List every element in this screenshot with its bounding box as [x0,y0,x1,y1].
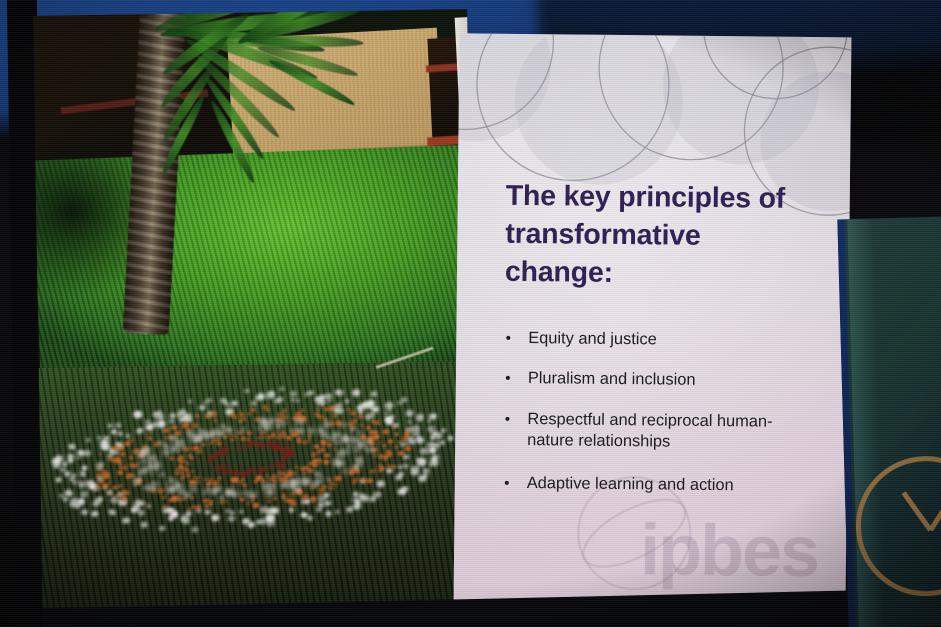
photo-petal [323,434,330,440]
photo-petal [372,469,377,473]
photo-petal [247,412,251,415]
photo-petal [164,435,168,438]
photo-petal [95,497,103,503]
photo-petal [134,499,142,506]
slide-bullet-item: Equity and justice [498,328,834,353]
photo-petal [149,472,154,476]
photo-petal [238,419,243,423]
photo-petal [213,482,218,486]
photo-petal [382,429,389,435]
photo-petal [266,392,276,400]
photo-petal [225,509,230,513]
photo-petal [191,488,197,493]
photo-petal [350,411,357,417]
photo-petal [221,447,227,452]
photo-petal [157,488,164,494]
photo-petal [117,431,123,436]
photo-petal [310,496,317,502]
slide-bullet-text: Respectful and reciprocal human- [527,409,772,433]
slide-bullet-item: Respectful and reciprocal human- nature … [497,408,833,454]
photo-petal [386,468,392,473]
photo-petal [187,475,190,478]
photo-petal [289,390,297,397]
photo-petal [195,413,201,418]
photo-petal [62,497,68,502]
photo-petal [357,458,364,464]
photo-petal [138,510,145,516]
photo-petal [398,440,402,444]
photo-petal [238,445,243,449]
slide-title-line-3: change: [505,254,823,295]
photo-petal [169,487,176,492]
photo-petal [354,448,359,452]
photo-petal [281,408,287,413]
photo-petal [231,400,238,406]
photo-petal [253,502,259,507]
photo-petal [81,509,88,515]
photo-petal [179,477,184,481]
photo-petal [328,399,333,403]
photo-petal [385,417,391,422]
photo-petal [197,449,203,454]
photo-petal [440,428,446,433]
photo-petal [394,432,399,436]
photo-petal [188,399,193,403]
photo-petal [288,507,294,512]
photo-petal [279,477,285,482]
photo-petal [325,511,332,517]
photo-petal [120,472,123,475]
photo-petal [242,436,245,439]
photo-petal [239,509,244,513]
photo-petal [204,509,210,514]
photo-petal [98,468,102,471]
slide-bullet-list: Equity and justice Pluralism and inclusi… [496,328,834,517]
photo-petal [161,496,166,501]
photo-petal [199,404,206,410]
photo-petal [274,464,278,467]
photo-petal [290,501,297,507]
photo-petal [281,420,287,425]
photo-petal [146,504,151,508]
slide-bullet-text: Pluralism and inclusion [528,368,696,391]
photo-petal [72,474,78,479]
photo-petal [369,496,377,503]
photo-petal [374,420,380,425]
photo-petal [302,471,307,475]
photo-petal [387,439,394,444]
photo-petal [95,485,101,490]
photo-petal [192,423,199,429]
photo-petal [301,494,308,500]
photo-petal [208,503,212,506]
photo-petal [110,510,116,515]
photo-petal [431,457,437,462]
photo-petal [219,500,225,505]
photo-petal [384,402,393,410]
photo-petal [308,437,311,440]
photo-petal [61,462,68,467]
photo-petal [190,470,194,473]
photo-petal [159,525,166,531]
photo-petal [286,459,290,462]
photo-petal [128,455,134,460]
photo-petal [320,447,324,450]
slide-bullet-item: Pluralism and inclusion [498,368,834,393]
photo-petal [316,398,326,406]
photo-petal [265,466,271,471]
slide-title-line-2: transformative [505,216,823,257]
photo-petal [352,498,356,502]
photo-petal [186,462,190,465]
photo-petal [302,440,307,444]
photo-petal [384,412,388,416]
photo-petal [137,470,143,475]
photo-petal [203,478,207,481]
photo-petal [78,481,87,488]
photo-petal [156,482,161,486]
photo-petal [407,420,412,424]
presentation-photo-scene: ipbes The key principles of transformati… [0,0,941,627]
photo-petal [151,465,156,469]
photo-petal [55,477,61,482]
photo-petal [213,419,217,422]
photo-petal [323,422,331,428]
photo-petal [118,484,123,488]
photo-petal [327,409,330,412]
photo-petal [257,436,261,439]
photo-petal [352,389,361,396]
photo-petal [167,515,174,521]
photo-petal [150,431,153,434]
photo-petal [233,492,239,497]
photo-petal [205,487,211,492]
photo-petal [303,392,309,397]
photo-petal [70,445,76,450]
photo-petal [246,502,250,505]
photo-petal [214,466,220,471]
photo-petal [209,456,214,460]
photo-petal [115,423,121,428]
photo-petal [130,473,134,477]
photo-petal [190,496,195,500]
photo-petal [255,519,261,524]
photo-petal [391,464,397,469]
photo-petal [402,486,408,491]
photo-petal [440,441,445,446]
photo-petal [308,468,314,473]
photo-petal [208,462,212,465]
photo-petal [333,447,338,451]
photo-petal [243,471,249,476]
photo-petal [405,409,414,417]
photo-petal [246,430,252,435]
photo-petal [278,464,284,469]
photo-petal [326,442,332,447]
photo-petal [249,522,255,527]
photo-petal [346,444,352,449]
photo-petal [271,507,279,514]
photo-petal [159,472,165,477]
photo-petal [233,416,238,420]
slide-title: The key principles of transformative cha… [505,178,824,295]
photo-petal [392,424,397,428]
photo-petal [291,471,297,476]
photo-petal [316,479,323,484]
photo-petal [108,492,112,496]
photo-petal [251,470,256,474]
photo-petal [419,447,428,455]
photo-petal [382,444,388,449]
photo-petal [230,438,234,441]
photo-petal [282,485,287,489]
photo-petal [147,437,151,440]
photo-petal [307,516,313,521]
photo-petal [267,499,271,503]
photo-petal [349,430,353,434]
photo-petal [372,406,379,412]
slide-bullet-item: Adaptive learning and action [497,473,833,498]
photo-petal [393,445,399,450]
side-banner [837,217,941,627]
photo-petal [260,430,266,435]
photo-petal [122,518,130,525]
photo-petal [322,485,325,488]
photo-petal [260,443,266,448]
photo-petal [324,500,331,506]
photo-petal [307,434,311,437]
photo-petal [231,485,236,489]
photo-petal [402,463,409,469]
photo-petal [219,495,225,500]
photo-petal [294,466,298,470]
photo-petal [251,401,257,406]
photo-petal [323,460,329,465]
photo-petal [250,408,255,412]
photo-petal [316,507,322,512]
photo-petal [145,423,154,431]
photo-petal [401,397,408,403]
photo-petal [307,428,314,434]
photo-petal [177,497,183,502]
slide-bullet-text-cont: nature relationships [527,430,670,453]
photo-petal [366,478,373,484]
photo-petal [261,436,266,440]
photo-petal [361,438,367,443]
photo-petal [196,481,200,484]
photo-petal [124,491,130,496]
photo-petal [76,456,81,460]
photo-petal [163,428,170,434]
slide-panel: ipbes The key principles of transformati… [453,33,851,613]
photo-petal [107,424,113,429]
photo-petal [192,448,196,451]
photo-petal [279,386,285,391]
slide-photograph [33,9,476,608]
photo-petal [146,433,149,436]
photo-petal [136,428,143,434]
photo-petal [140,521,148,527]
projection-screen: ipbes The key principles of transformati… [33,0,858,610]
photo-petal [244,518,250,523]
photo-petal [191,526,198,532]
photo-petal [326,486,329,489]
photo-petal [271,445,275,448]
photo-petal [265,408,269,411]
photo-petal [238,431,243,435]
photo-petal [386,452,392,457]
photo-petal [107,481,111,484]
photo-petal [269,489,277,496]
photo-petal [189,480,194,484]
photo-petal [335,483,338,486]
photo-petal [81,465,88,471]
photo-petal [150,481,156,486]
photo-petal [281,430,286,434]
photo-petal [119,452,125,457]
photo-petal [273,497,277,500]
photo-petal [340,423,347,429]
photo-petal [387,464,392,468]
photo-petal [138,460,143,465]
photo-petal [257,469,263,474]
photo-petal [211,514,220,522]
photo-petal [174,470,180,475]
photo-petal [129,438,134,442]
photo-petal [115,458,122,464]
photo-petal [162,449,170,456]
photo-petal [169,413,176,419]
slide-bullet-text: Adaptive learning and action [527,473,734,496]
photo-petal [121,466,127,471]
photo-petal [267,436,272,440]
photo-petal [191,506,195,509]
photo-petal [267,482,275,489]
photo-petal [447,435,454,440]
ipbes-watermark-text: ipbes [640,509,819,593]
photo-petal [214,457,218,460]
photo-petal [315,472,320,476]
photo-petal [360,478,366,483]
photo-petal [202,443,206,446]
photo-petal [177,450,181,453]
photo-petal [86,438,91,442]
photo-petal [333,414,338,418]
photo-petal [311,454,316,458]
photo-petal [298,482,303,486]
photo-petal [84,450,91,456]
photo-petal [80,490,89,497]
slide-title-line-1: The key principles of [506,178,824,219]
photo-petal [370,391,377,397]
photo-petal [404,446,411,452]
photo-petal [398,465,403,469]
photo-petal [99,453,103,456]
photo-petal [316,407,321,411]
photo-petal [416,413,424,420]
photo-petal [208,442,212,445]
photo-petal [321,441,327,446]
photo-petal [117,446,123,451]
photo-petal [275,423,282,429]
photo-petal [80,470,85,474]
photo-petal [341,469,348,475]
photo-petal [104,484,109,488]
photo-petal [427,419,431,423]
slide-bullet-text: Equity and justice [528,328,657,351]
photo-petal [274,398,280,403]
photo-petal [303,481,310,487]
photo-petal [245,389,250,393]
photo-petal [227,515,235,522]
photo-petal [301,409,305,412]
photo-petal [230,510,235,515]
photo-petal [346,506,353,512]
photo-petal [335,440,341,445]
photo-petal [189,456,194,460]
photo-petal [223,401,228,405]
photo-petal [336,389,344,396]
photo-petal [211,411,218,417]
photo-petal [90,510,98,517]
photo-petal [333,432,340,438]
photo-petal [203,400,208,404]
photo-petal [345,399,350,403]
photo-petal [256,392,265,400]
photo-petal [69,492,74,496]
photo-petal [64,471,71,477]
photo-petal [317,458,323,463]
photo-petal [352,481,356,484]
photo-petal [169,419,175,424]
photo-petal [76,497,85,505]
photo-petal [342,438,348,443]
photo-petal [184,448,189,452]
photo-petal [198,475,201,478]
photo-petal [295,399,299,403]
photo-petal [235,437,238,440]
photo-petal [239,498,244,502]
photo-petal [325,453,330,457]
photo-petal [180,460,185,464]
photo-petal [360,424,364,427]
photo-petal [285,499,290,503]
photo-petal [103,473,110,479]
photo-petal [282,453,287,457]
photo-petal [224,500,228,504]
photo-petal [376,480,385,487]
photo-petal [169,456,174,460]
photo-petal [372,453,377,457]
photo-petal [282,494,285,497]
photo-petal [344,449,351,454]
photo-petal [281,436,285,440]
photo-petal [326,477,331,482]
photo-petal [218,477,222,480]
photo-petal [335,510,340,514]
photo-petal [288,452,294,457]
